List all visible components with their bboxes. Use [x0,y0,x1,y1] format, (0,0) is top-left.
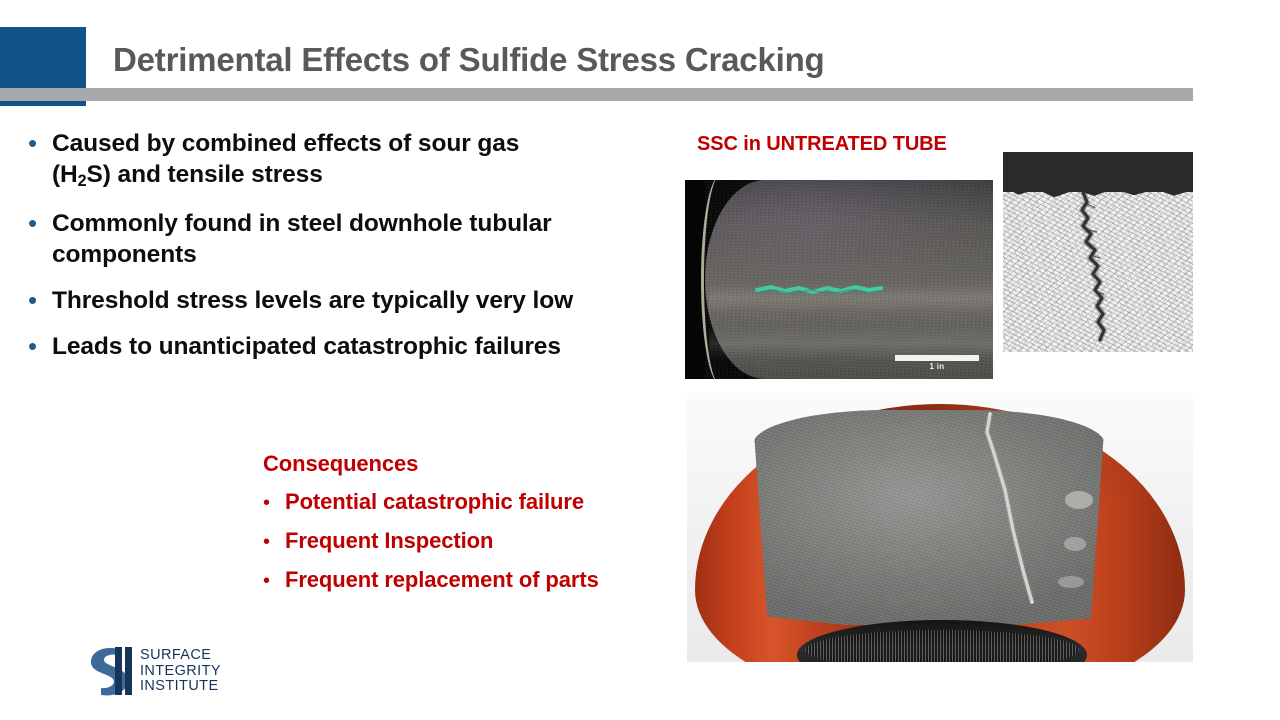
bullet-text-post: S) and tensile stress [87,161,323,188]
subscript-2: 2 [78,172,87,190]
page-title: Detrimental Effects of Sulfide Stress Cr… [113,41,1173,79]
consequence-text: Potential catastrophic failure [285,488,683,516]
bullet-text: Threshold stress levels are typically ve… [52,285,578,316]
crack-cross-section-micrograph [1003,152,1193,352]
bullet-text: Commonly found in steel downhole tubular… [52,208,578,270]
list-item: • Threshold stress levels are typically … [18,285,578,316]
header-accent-bar [0,88,1193,101]
bullet-marker-icon: • [18,331,52,362]
slide-canvas: Detrimental Effects of Sulfide Stress Cr… [0,0,1280,720]
logo-line-3: INSTITUTE [140,679,221,695]
list-item: • Potential catastrophic failure [263,488,683,517]
bullet-list: • Caused by combined effects of sour gas… [18,128,578,377]
bullet-marker-icon: • [263,567,285,595]
scale-bar-label: 1 in [895,362,979,371]
through-wall-crack-path [687,392,1193,662]
scale-bar [895,355,979,361]
list-item: • Leads to unanticipated catastrophic fa… [18,331,578,362]
bullet-text: Leads to unanticipated catastrophic fail… [52,331,578,362]
highlighted-crack-overlay [685,180,993,379]
logo-line-1: SURFACE [140,648,221,664]
tube-outer-surface-photo: 1 in [685,180,993,379]
figures-heading: SSC in UNTREATED TUBE [697,133,947,156]
consequences-heading: Consequences [263,450,683,478]
bullet-text: Caused by combined effects of sour gas (… [52,128,578,193]
consequences-block: Consequences • Potential catastrophic fa… [263,450,683,595]
list-item: • Frequent replacement of parts [263,566,683,595]
si-monogram-icon [88,645,134,697]
list-item: • Caused by combined effects of sour gas… [18,128,578,193]
consequence-text: Frequent replacement of parts [285,566,683,594]
micrograph-crack-path [1003,152,1193,352]
coated-coupling-crack-photo [687,392,1193,662]
company-logo: SURFACE INTEGRITY INSTITUTE [88,645,248,705]
logo-line-2: INTEGRITY [140,664,221,680]
list-item: • Frequent Inspection [263,527,683,556]
bullet-marker-icon: • [263,528,285,556]
consequence-text: Frequent Inspection [285,527,683,555]
bullet-marker-icon: • [18,208,52,239]
logo-wordmark: SURFACE INTEGRITY INSTITUTE [140,648,221,695]
bullet-marker-icon: • [18,285,52,316]
list-item: • Commonly found in steel downhole tubul… [18,208,578,270]
bullet-marker-icon: • [18,128,52,159]
bullet-marker-icon: • [263,489,285,517]
